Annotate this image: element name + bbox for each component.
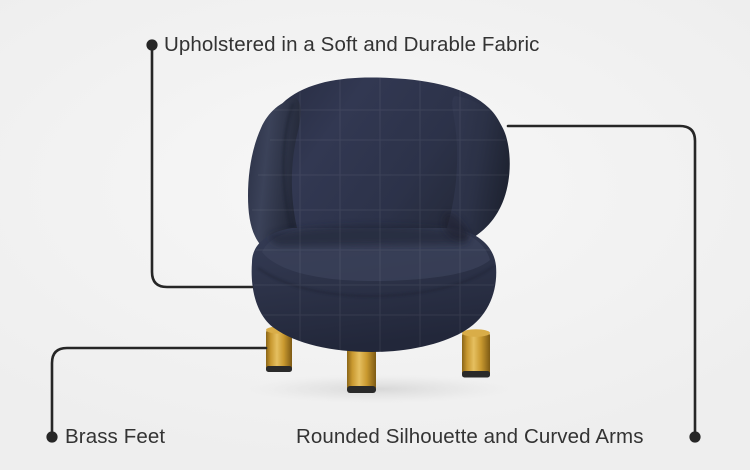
callout-label-fabric: Upholstered in a Soft and Durable Fabric [164, 35, 539, 56]
callout-label-feet: Brass Feet [65, 427, 165, 448]
right-foot [462, 329, 490, 377]
callout-label-arms: Rounded Silhouette and Curved Arms [296, 427, 644, 448]
floor-shadow [238, 374, 518, 404]
infographic-canvas: Upholstered in a Soft and Durable Fabric… [0, 0, 750, 470]
chair-illustration [0, 0, 750, 470]
